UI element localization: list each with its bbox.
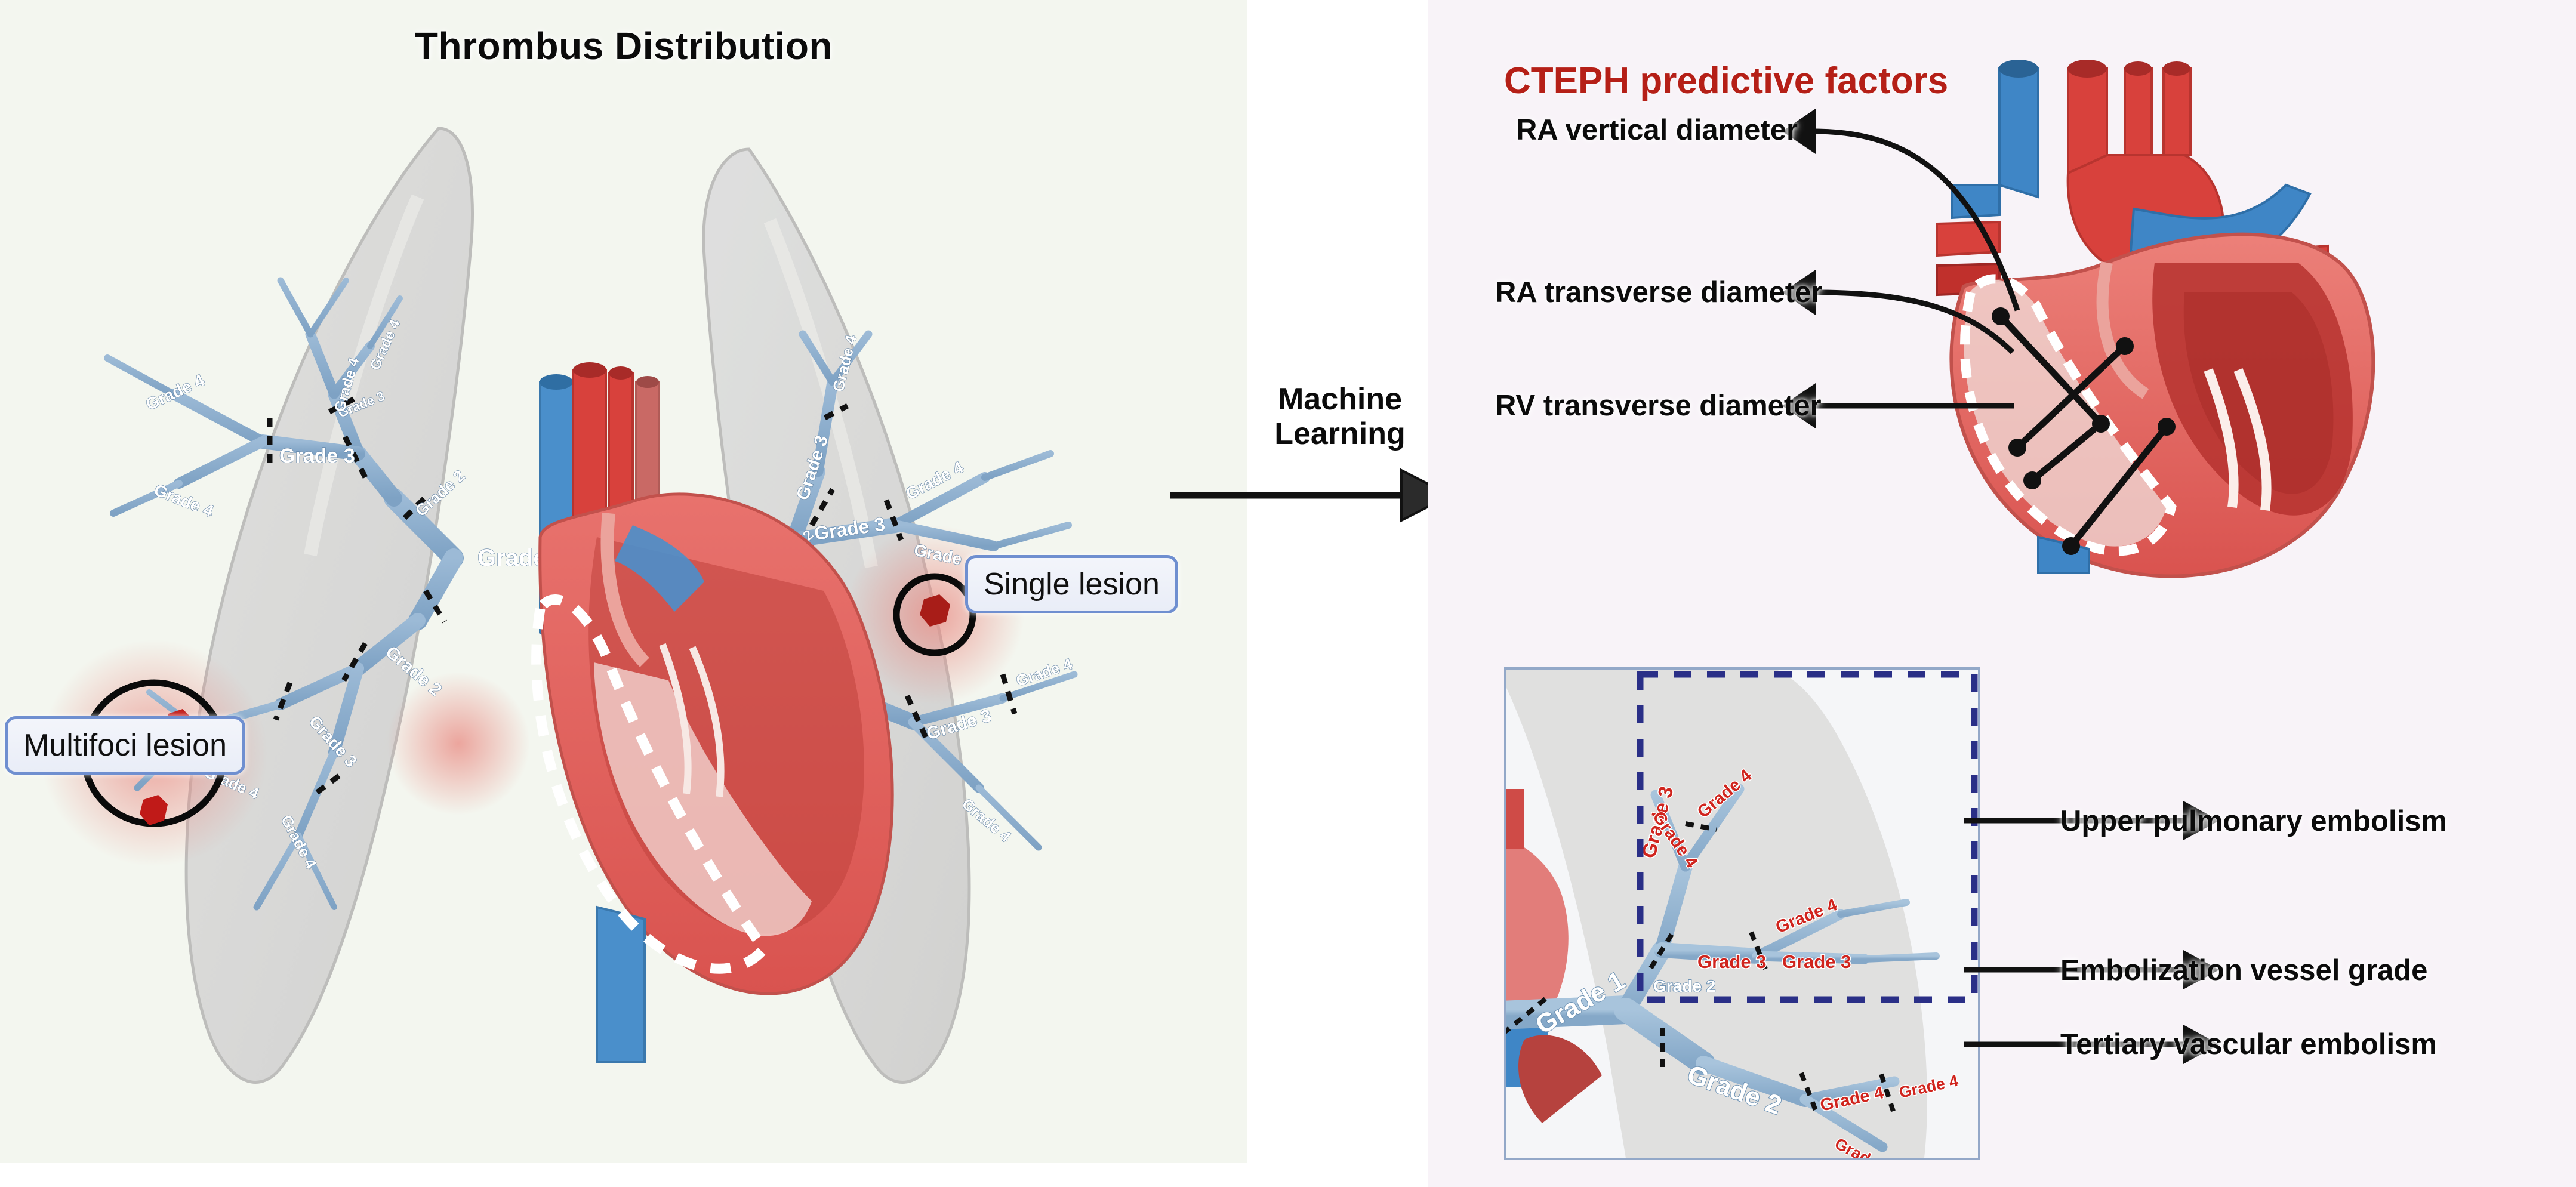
inset-illustration: Grade 3 Grade 4 Grade 4 Grade 3 Grade 4 … [1506, 670, 1978, 1158]
pulmonary-embolism-inset: Grade 3 Grade 4 Grade 4 Grade 3 Grade 4 … [1504, 667, 1980, 1160]
label-rv-transverse-diameter: RV transverse diameter [1495, 389, 1822, 423]
callout-multifoci-lesion[interactable]: Multifoci lesion [5, 716, 245, 775]
label-ra-vertical-diameter: RA vertical diameter [1516, 113, 1798, 147]
inset-grade-label: Grade 3 [1782, 951, 1851, 972]
figure-root: Thrombus Distribution [0, 0, 2576, 1187]
machine-learning-label: Machine Learning [1250, 382, 1429, 451]
machine-learning-arrow [1170, 460, 1450, 531]
inset-grade-label: Grade 3 [1697, 951, 1766, 972]
machine-learning-line-2: Learning [1250, 417, 1429, 451]
callout-label: Single lesion [984, 567, 1160, 602]
lesion-glow-center [387, 672, 530, 815]
label-embolization-vessel-grade: Embolization vessel grade [2060, 954, 2427, 987]
label-upper-pulmonary-embolism: Upper pulmonary embolism [2060, 804, 2447, 838]
label-ra-transverse-diameter: RA transverse diameter [1495, 276, 1822, 309]
label-tertiary-vascular-embolism: Tertiary vascular embolism [2060, 1028, 2437, 1061]
callout-label: Multifoci lesion [23, 728, 227, 763]
inset-grade-label: Grade 2 [1653, 977, 1715, 995]
grade-label: Grade 3 [279, 445, 355, 467]
machine-learning-line-1: Machine [1250, 382, 1429, 417]
callout-single-lesion[interactable]: Single lesion [965, 555, 1178, 613]
